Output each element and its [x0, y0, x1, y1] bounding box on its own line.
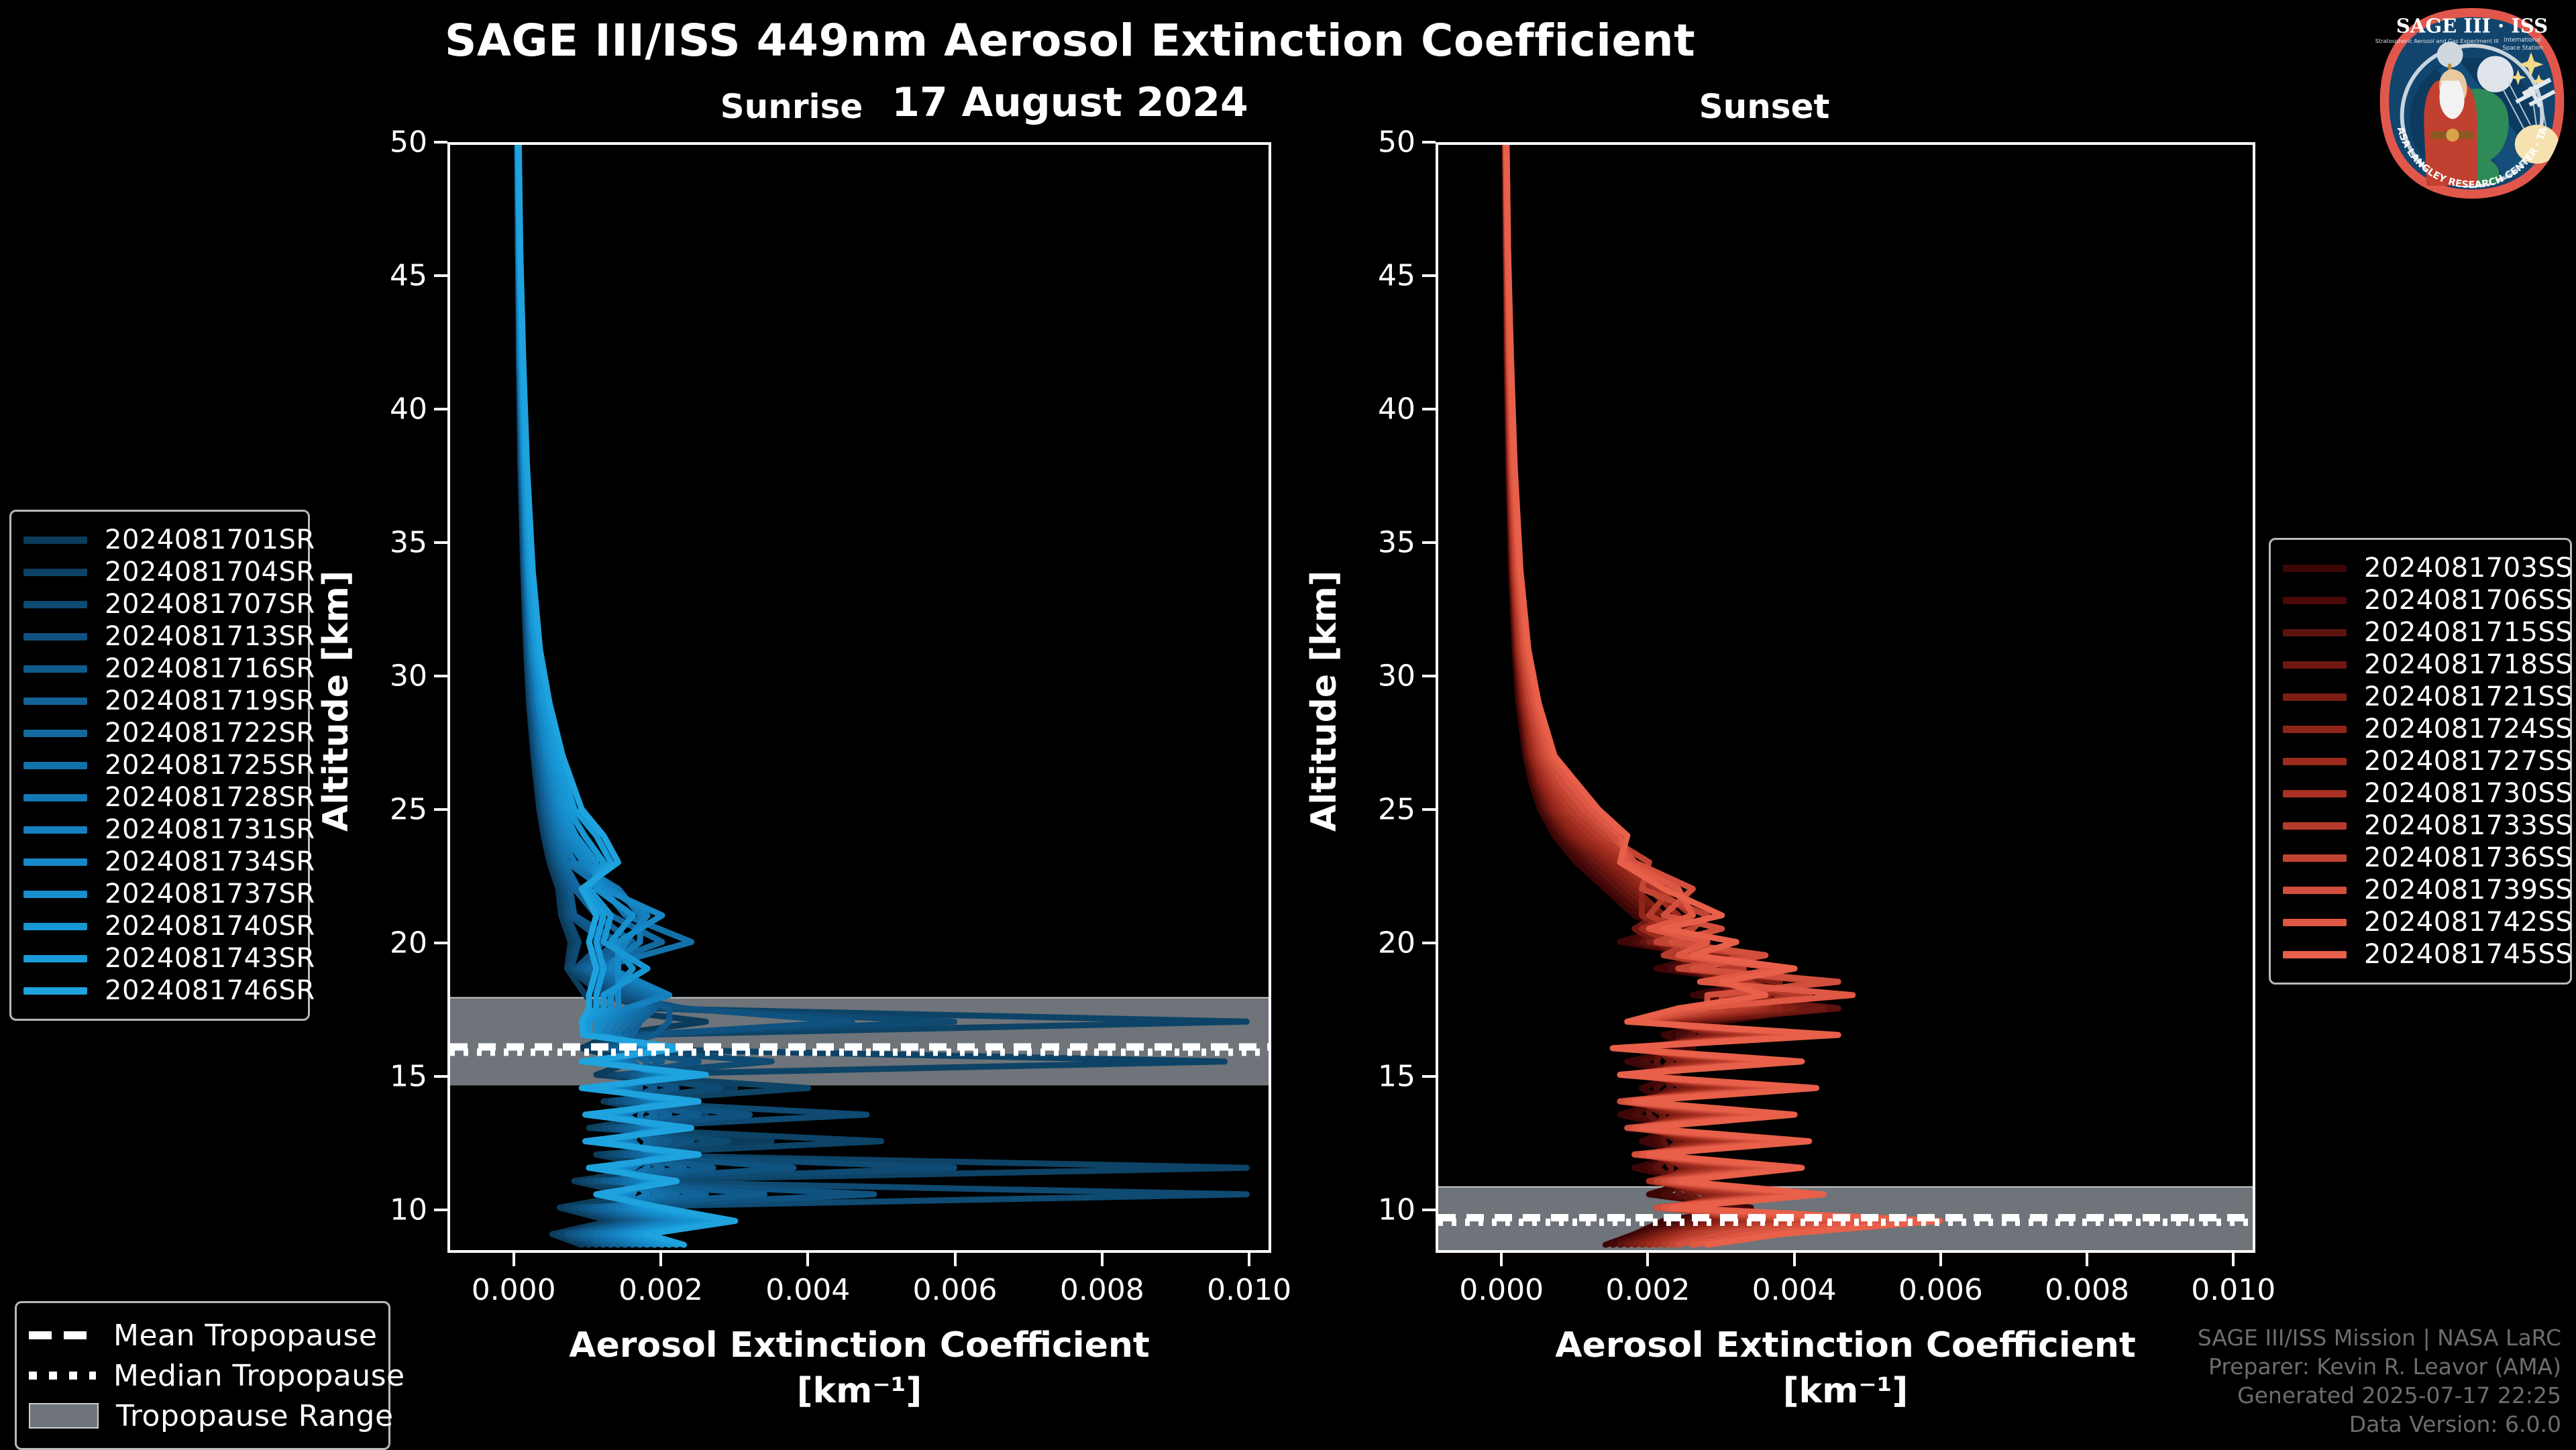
legend-item-2024081716SR[interactable]: 2024081716SR: [23, 653, 293, 685]
x-axis-tick-label: 0.008: [2013, 1273, 2161, 1307]
legend-label-2024081713SR: 2024081713SR: [105, 621, 315, 652]
logo-subtitle-right-1: International: [2504, 37, 2541, 44]
legend-label-2024081730SS: 2024081730SS: [2364, 778, 2573, 809]
x-axis-units: [km⁻¹]: [1436, 1371, 2255, 1411]
x-axis-tick-mark: [1101, 1253, 1104, 1266]
y-axis-tick-label: 40: [1335, 392, 1415, 427]
legend-item-2024081725SR[interactable]: 2024081725SR: [23, 749, 293, 781]
legend-item-tropopause-range[interactable]: Tropopause Range: [29, 1396, 374, 1436]
sunrise-legend[interactable]: 2024081701SR2024081704SR2024081707SR2024…: [9, 510, 310, 1021]
legend-item-2024081737SR[interactable]: 2024081737SR: [23, 878, 293, 910]
y-axis-tick-mark: [1422, 1209, 1436, 1211]
line-swatch-icon: [2283, 854, 2347, 862]
y-axis-tick-mark: [1422, 408, 1436, 410]
credit-line-1: SAGE III/ISS Mission | NASA LaRC: [2198, 1324, 2561, 1353]
legend-item-2024081740SR[interactable]: 2024081740SR: [23, 910, 293, 942]
legend-label-2024081724SS: 2024081724SS: [2364, 714, 2573, 744]
y-axis-tick-mark: [1422, 274, 1436, 277]
x-axis-tick-mark: [806, 1253, 809, 1266]
y-axis-tick-label: 25: [1335, 793, 1415, 827]
y-axis-tick-mark: [1422, 1075, 1436, 1078]
legend-label-2024081743SR: 2024081743SR: [105, 943, 315, 974]
profile-line-2024081745SS: [1507, 145, 1940, 1245]
y-axis-tick-mark: [434, 141, 447, 144]
y-axis-tick-label: 50: [1335, 125, 1415, 160]
x-axis-tick-label: 0.000: [440, 1273, 588, 1307]
legend-label-2024081703SS: 2024081703SS: [2364, 553, 2573, 583]
x-axis-tick-mark: [1793, 1253, 1796, 1266]
x-axis-tick-label: 0.002: [1574, 1273, 1721, 1307]
line-swatch-icon: [23, 762, 87, 769]
y-axis-tick-label: 10: [1335, 1193, 1415, 1227]
legend-item-2024081718SS[interactable]: 2024081718SS: [2283, 649, 2555, 681]
legend-item-2024081724SS[interactable]: 2024081724SS: [2283, 713, 2555, 745]
legend-item-2024081701SR[interactable]: 2024081701SR: [23, 524, 293, 556]
legend-item-2024081745SS[interactable]: 2024081745SS: [2283, 938, 2555, 970]
line-swatch-icon: [23, 955, 87, 962]
legend-label-2024081742SS: 2024081742SS: [2364, 907, 2573, 938]
legend-item-2024081739SS[interactable]: 2024081739SS: [2283, 874, 2555, 906]
y-axis-tick-mark: [1422, 141, 1436, 144]
y-axis-label: Altitude [km]: [316, 570, 356, 832]
y-axis-tick-label: 20: [1335, 926, 1415, 960]
line-swatch-icon: [23, 633, 87, 640]
y-axis-tick-mark: [434, 408, 447, 410]
y-axis-tick-label: 35: [1335, 526, 1415, 560]
legend-label-2024081718SS: 2024081718SS: [2364, 649, 2573, 680]
y-axis-label: Altitude [km]: [1304, 570, 1344, 832]
legend-item-2024081730SS[interactable]: 2024081730SS: [2283, 777, 2555, 810]
line-swatch-icon: [23, 987, 87, 995]
legend-label-2024081721SS: 2024081721SS: [2364, 681, 2573, 712]
y-axis-tick-mark: [1422, 675, 1436, 677]
y-axis-tick-label: 30: [1335, 659, 1415, 693]
line-swatch-icon: [23, 537, 87, 544]
x-axis-tick-label: 0.000: [1428, 1273, 1575, 1307]
legend-label-2024081740SR: 2024081740SR: [105, 911, 315, 942]
legend-item-mean-tropopause[interactable]: Mean Tropopause: [29, 1315, 374, 1355]
line-swatch-icon: [23, 794, 87, 801]
x-axis-tick-label: 0.002: [587, 1273, 735, 1307]
x-axis-tick-label: 0.010: [1175, 1273, 1323, 1307]
x-axis-tick-mark: [513, 1253, 515, 1266]
credit-line-2: Preparer: Kevin R. Leavor (AMA): [2198, 1353, 2561, 1382]
x-axis-tick-mark: [2232, 1253, 2235, 1266]
line-swatch-icon: [2283, 919, 2347, 926]
x-axis-label: Aerosol Extinction Coefficient: [447, 1325, 1271, 1365]
line-swatch-icon: [2283, 565, 2347, 572]
line-swatch-icon: [2283, 790, 2347, 797]
legend-label-2024081731SR: 2024081731SR: [105, 814, 315, 845]
y-axis-tick-label: 25: [347, 793, 427, 827]
x-axis-tick-label: 0.006: [881, 1273, 1029, 1307]
line-swatch-icon: [23, 826, 87, 834]
line-swatch-icon: [2283, 693, 2347, 701]
line-swatch-icon: [23, 730, 87, 737]
line-swatch-icon: [23, 698, 87, 705]
line-swatch-icon: [2283, 951, 2347, 958]
legend-item-2024081746SR[interactable]: 2024081746SR: [23, 974, 293, 1007]
x-axis-tick-label: 0.004: [1721, 1273, 1868, 1307]
sunset-legend[interactable]: 2024081703SS2024081706SS2024081715SS2024…: [2269, 538, 2572, 985]
legend-label-2024081725SR: 2024081725SR: [105, 750, 315, 781]
dashed-line-icon: [29, 1331, 96, 1339]
legend-label-2024081707SR: 2024081707SR: [105, 589, 315, 620]
x-axis-tick-label: 0.006: [1867, 1273, 2015, 1307]
legend-label-2024081734SR: 2024081734SR: [105, 846, 315, 877]
y-axis-tick-label: 45: [1335, 259, 1415, 293]
legend-label-2024081746SR: 2024081746SR: [105, 975, 315, 1006]
y-axis-tick-mark: [434, 1075, 447, 1078]
legend-item-2024081727SS[interactable]: 2024081727SS: [2283, 745, 2555, 777]
x-axis-tick-mark: [1646, 1253, 1649, 1266]
legend-item-2024081722SR[interactable]: 2024081722SR: [23, 717, 293, 749]
legend-item-2024081736SS[interactable]: 2024081736SS: [2283, 842, 2555, 874]
legend-label-2024081727SS: 2024081727SS: [2364, 746, 2573, 777]
line-swatch-icon: [23, 569, 87, 576]
y-axis-tick-mark: [1422, 808, 1436, 811]
legend-item-2024081713SR[interactable]: 2024081713SR: [23, 620, 293, 653]
line-swatch-icon: [2283, 629, 2347, 636]
legend-label-2024081716SR: 2024081716SR: [105, 653, 315, 684]
x-axis-tick-mark: [659, 1253, 662, 1266]
line-swatch-icon: [2283, 822, 2347, 830]
legend-label-2024081704SR: 2024081704SR: [105, 557, 315, 588]
legend-item-2024081733SS[interactable]: 2024081733SS: [2283, 810, 2555, 842]
x-axis-label: Aerosol Extinction Coefficient: [1436, 1325, 2255, 1365]
legend-label-tropopause-range: Tropopause Range: [116, 1399, 394, 1433]
legend-item-2024081715SS[interactable]: 2024081715SS: [2283, 616, 2555, 649]
y-axis-tick-mark: [434, 1209, 447, 1211]
legend-item-2024081719SR[interactable]: 2024081719SR: [23, 685, 293, 717]
legend-item-2024081743SR[interactable]: 2024081743SR: [23, 942, 293, 974]
dotted-line-icon: [29, 1372, 96, 1380]
legend-label-2024081706SS: 2024081706SS: [2364, 585, 2573, 616]
y-axis-tick-mark: [434, 942, 447, 944]
sunset-panel-label: Sunset: [1617, 87, 1912, 126]
line-swatch-icon: [23, 665, 87, 673]
legend-label-2024081719SR: 2024081719SR: [105, 685, 315, 716]
x-axis-units: [km⁻¹]: [447, 1371, 1271, 1411]
legend-label-2024081736SS: 2024081736SS: [2364, 842, 2573, 873]
y-axis-tick-label: 40: [347, 392, 427, 427]
legend-item-2024081721SS[interactable]: 2024081721SS: [2283, 681, 2555, 713]
legend-item-2024081742SS[interactable]: 2024081742SS: [2283, 906, 2555, 938]
legend-label-2024081737SR: 2024081737SR: [105, 879, 315, 909]
legend-label-2024081722SR: 2024081722SR: [105, 718, 315, 748]
x-axis-tick-label: 0.008: [1028, 1273, 1176, 1307]
y-axis-tick-label: 15: [347, 1060, 427, 1094]
legend-item-2024081728SR[interactable]: 2024081728SR: [23, 781, 293, 814]
y-axis-tick-mark: [1422, 942, 1436, 944]
legend-label-2024081728SR: 2024081728SR: [105, 782, 315, 813]
legend-item-2024081707SR[interactable]: 2024081707SR: [23, 588, 293, 620]
y-axis-tick-mark: [434, 675, 447, 677]
tropopause-legend[interactable]: Mean Tropopause Median Tropopause Tropop…: [15, 1301, 390, 1450]
legend-item-2024081706SS[interactable]: 2024081706SS: [2283, 584, 2555, 616]
sunrise-plot-panel: [447, 142, 1271, 1253]
y-axis-tick-mark: [434, 274, 447, 277]
legend-label-median-tropopause: Median Tropopause: [113, 1359, 405, 1393]
y-axis-tick-label: 45: [347, 259, 427, 293]
legend-item-2024081704SR[interactable]: 2024081704SR: [23, 556, 293, 588]
line-swatch-icon: [23, 601, 87, 608]
legend-label-2024081733SS: 2024081733SS: [2364, 810, 2573, 841]
logo-subtitle-left: Stratospheric Aerosol and Gas Experiment…: [2375, 38, 2499, 44]
sage-iii-iss-mission-patch-logo: SAGE III · ISS Stratospheric Aerosol and…: [2375, 4, 2569, 205]
line-swatch-icon: [23, 891, 87, 898]
y-axis-tick-mark: [434, 808, 447, 811]
line-swatch-icon: [2283, 758, 2347, 765]
sunset-plot-panel: [1436, 142, 2255, 1253]
y-axis-tick-label: 10: [347, 1193, 427, 1227]
legend-item-2024081734SR[interactable]: 2024081734SR: [23, 846, 293, 878]
legend-label-mean-tropopause: Mean Tropopause: [113, 1319, 377, 1353]
y-axis-tick-label: 35: [347, 526, 427, 560]
credit-line-4: Data Version: 6.0.0: [2198, 1410, 2561, 1439]
x-axis-tick-label: 0.004: [734, 1273, 881, 1307]
line-swatch-icon: [23, 858, 87, 866]
page-title: SAGE III/ISS 449nm Aerosol Extinction Co…: [0, 15, 2140, 66]
filled-rect-icon: [29, 1403, 99, 1429]
line-swatch-icon: [2283, 661, 2347, 669]
legend-item-2024081703SS[interactable]: 2024081703SS: [2283, 552, 2555, 584]
line-swatch-icon: [2283, 726, 2347, 733]
legend-label-2024081745SS: 2024081745SS: [2364, 939, 2573, 970]
x-axis-tick-label: 0.010: [2159, 1273, 2307, 1307]
legend-label-2024081701SR: 2024081701SR: [105, 524, 315, 555]
y-axis-tick-mark: [1422, 541, 1436, 544]
legend-item-2024081731SR[interactable]: 2024081731SR: [23, 814, 293, 846]
y-axis-tick-label: 15: [1335, 1060, 1415, 1094]
logo-title: SAGE III · ISS: [2396, 15, 2548, 38]
legend-label-2024081715SS: 2024081715SS: [2364, 617, 2573, 648]
y-axis-tick-mark: [434, 541, 447, 544]
logo-subtitle-right-2: Space Station: [2502, 45, 2542, 52]
line-swatch-icon: [2283, 887, 2347, 894]
legend-label-2024081739SS: 2024081739SS: [2364, 875, 2573, 905]
x-axis-tick-mark: [954, 1253, 957, 1266]
y-axis-tick-label: 30: [347, 659, 427, 693]
line-swatch-icon: [2283, 597, 2347, 604]
credits-block: SAGE III/ISS Mission | NASA LaRCPreparer…: [2198, 1324, 2561, 1439]
line-swatch-icon: [23, 923, 87, 930]
sunrise-panel-label: Sunrise: [644, 87, 939, 126]
y-axis-tick-label: 20: [347, 926, 427, 960]
x-axis-tick-mark: [1500, 1253, 1503, 1266]
x-axis-tick-mark: [1248, 1253, 1250, 1266]
x-axis-tick-mark: [2086, 1253, 2088, 1266]
y-axis-tick-label: 50: [347, 125, 427, 160]
x-axis-tick-mark: [1939, 1253, 1942, 1266]
legend-item-median-tropopause[interactable]: Median Tropopause: [29, 1355, 374, 1396]
credit-line-3: Generated 2025-07-17 22:25: [2198, 1382, 2561, 1410]
